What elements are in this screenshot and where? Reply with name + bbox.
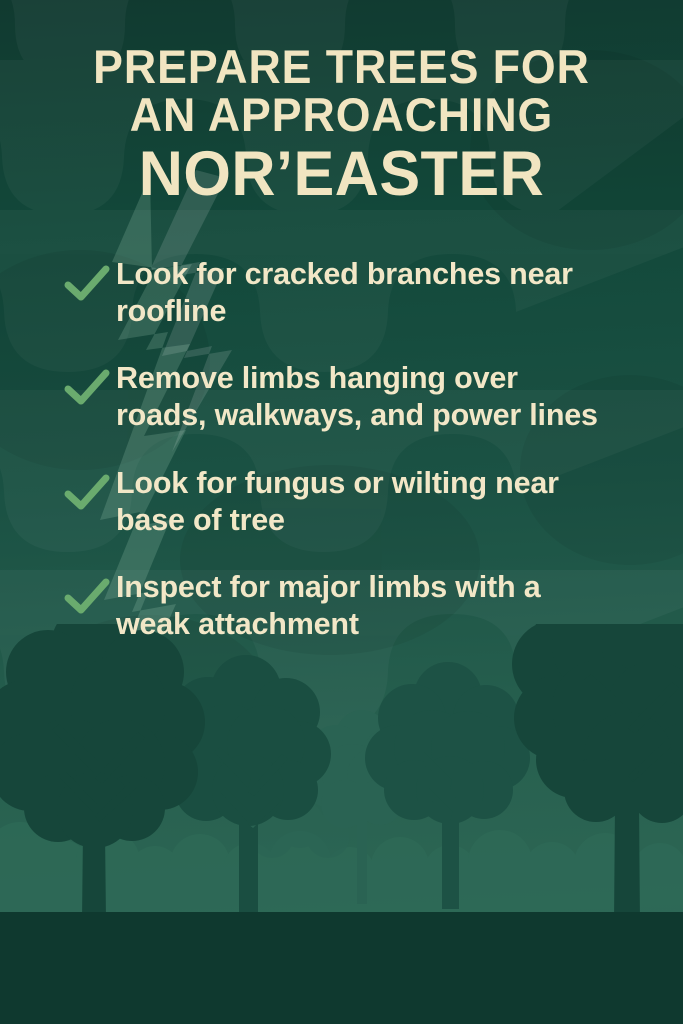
poster-title: PREPARE TREES FOR AN APPROACHING NOR’EAS… — [0, 0, 683, 206]
list-item-label: Inspect for major limbs with a weak atta… — [116, 569, 616, 643]
tree-mid-left — [158, 655, 331, 912]
tree-large-left — [0, 624, 205, 920]
infographic-poster: PREPARE TREES FOR AN APPROACHING NOR’EAS… — [0, 0, 683, 1024]
list-item: Remove limbs hanging over roads, walkway… — [64, 360, 653, 434]
checkmark-icon — [64, 465, 116, 512]
checkmark-icon — [64, 360, 116, 407]
checklist: Look for cracked branches near roofline … — [0, 206, 683, 644]
ground-strip — [0, 912, 683, 1024]
tree-silhouettes — [0, 624, 683, 1024]
tree-faint-far — [250, 800, 350, 858]
title-line-1: PREPARE TREES FOR — [51, 44, 631, 90]
checkmark-icon — [64, 256, 116, 303]
tree-large-right — [512, 624, 683, 924]
list-item: Look for fungus or wilting near base of … — [64, 465, 653, 539]
list-item: Inspect for major limbs with a weak atta… — [64, 569, 653, 643]
list-item-label: Remove limbs hanging over roads, walkway… — [116, 360, 616, 434]
list-item-label: Look for fungus or wilting near base of … — [116, 465, 616, 539]
checkmark-icon — [64, 569, 116, 616]
title-line-3: NOR’EASTER — [45, 144, 638, 206]
tree-mid-center — [365, 662, 530, 909]
list-item: Look for cracked branches near roofline — [64, 256, 653, 330]
list-item-label: Look for cracked branches near roofline — [116, 256, 616, 330]
title-line-2: AN APPROACHING — [51, 92, 631, 138]
tree-small-far — [304, 710, 419, 904]
background-bushes — [0, 822, 683, 922]
